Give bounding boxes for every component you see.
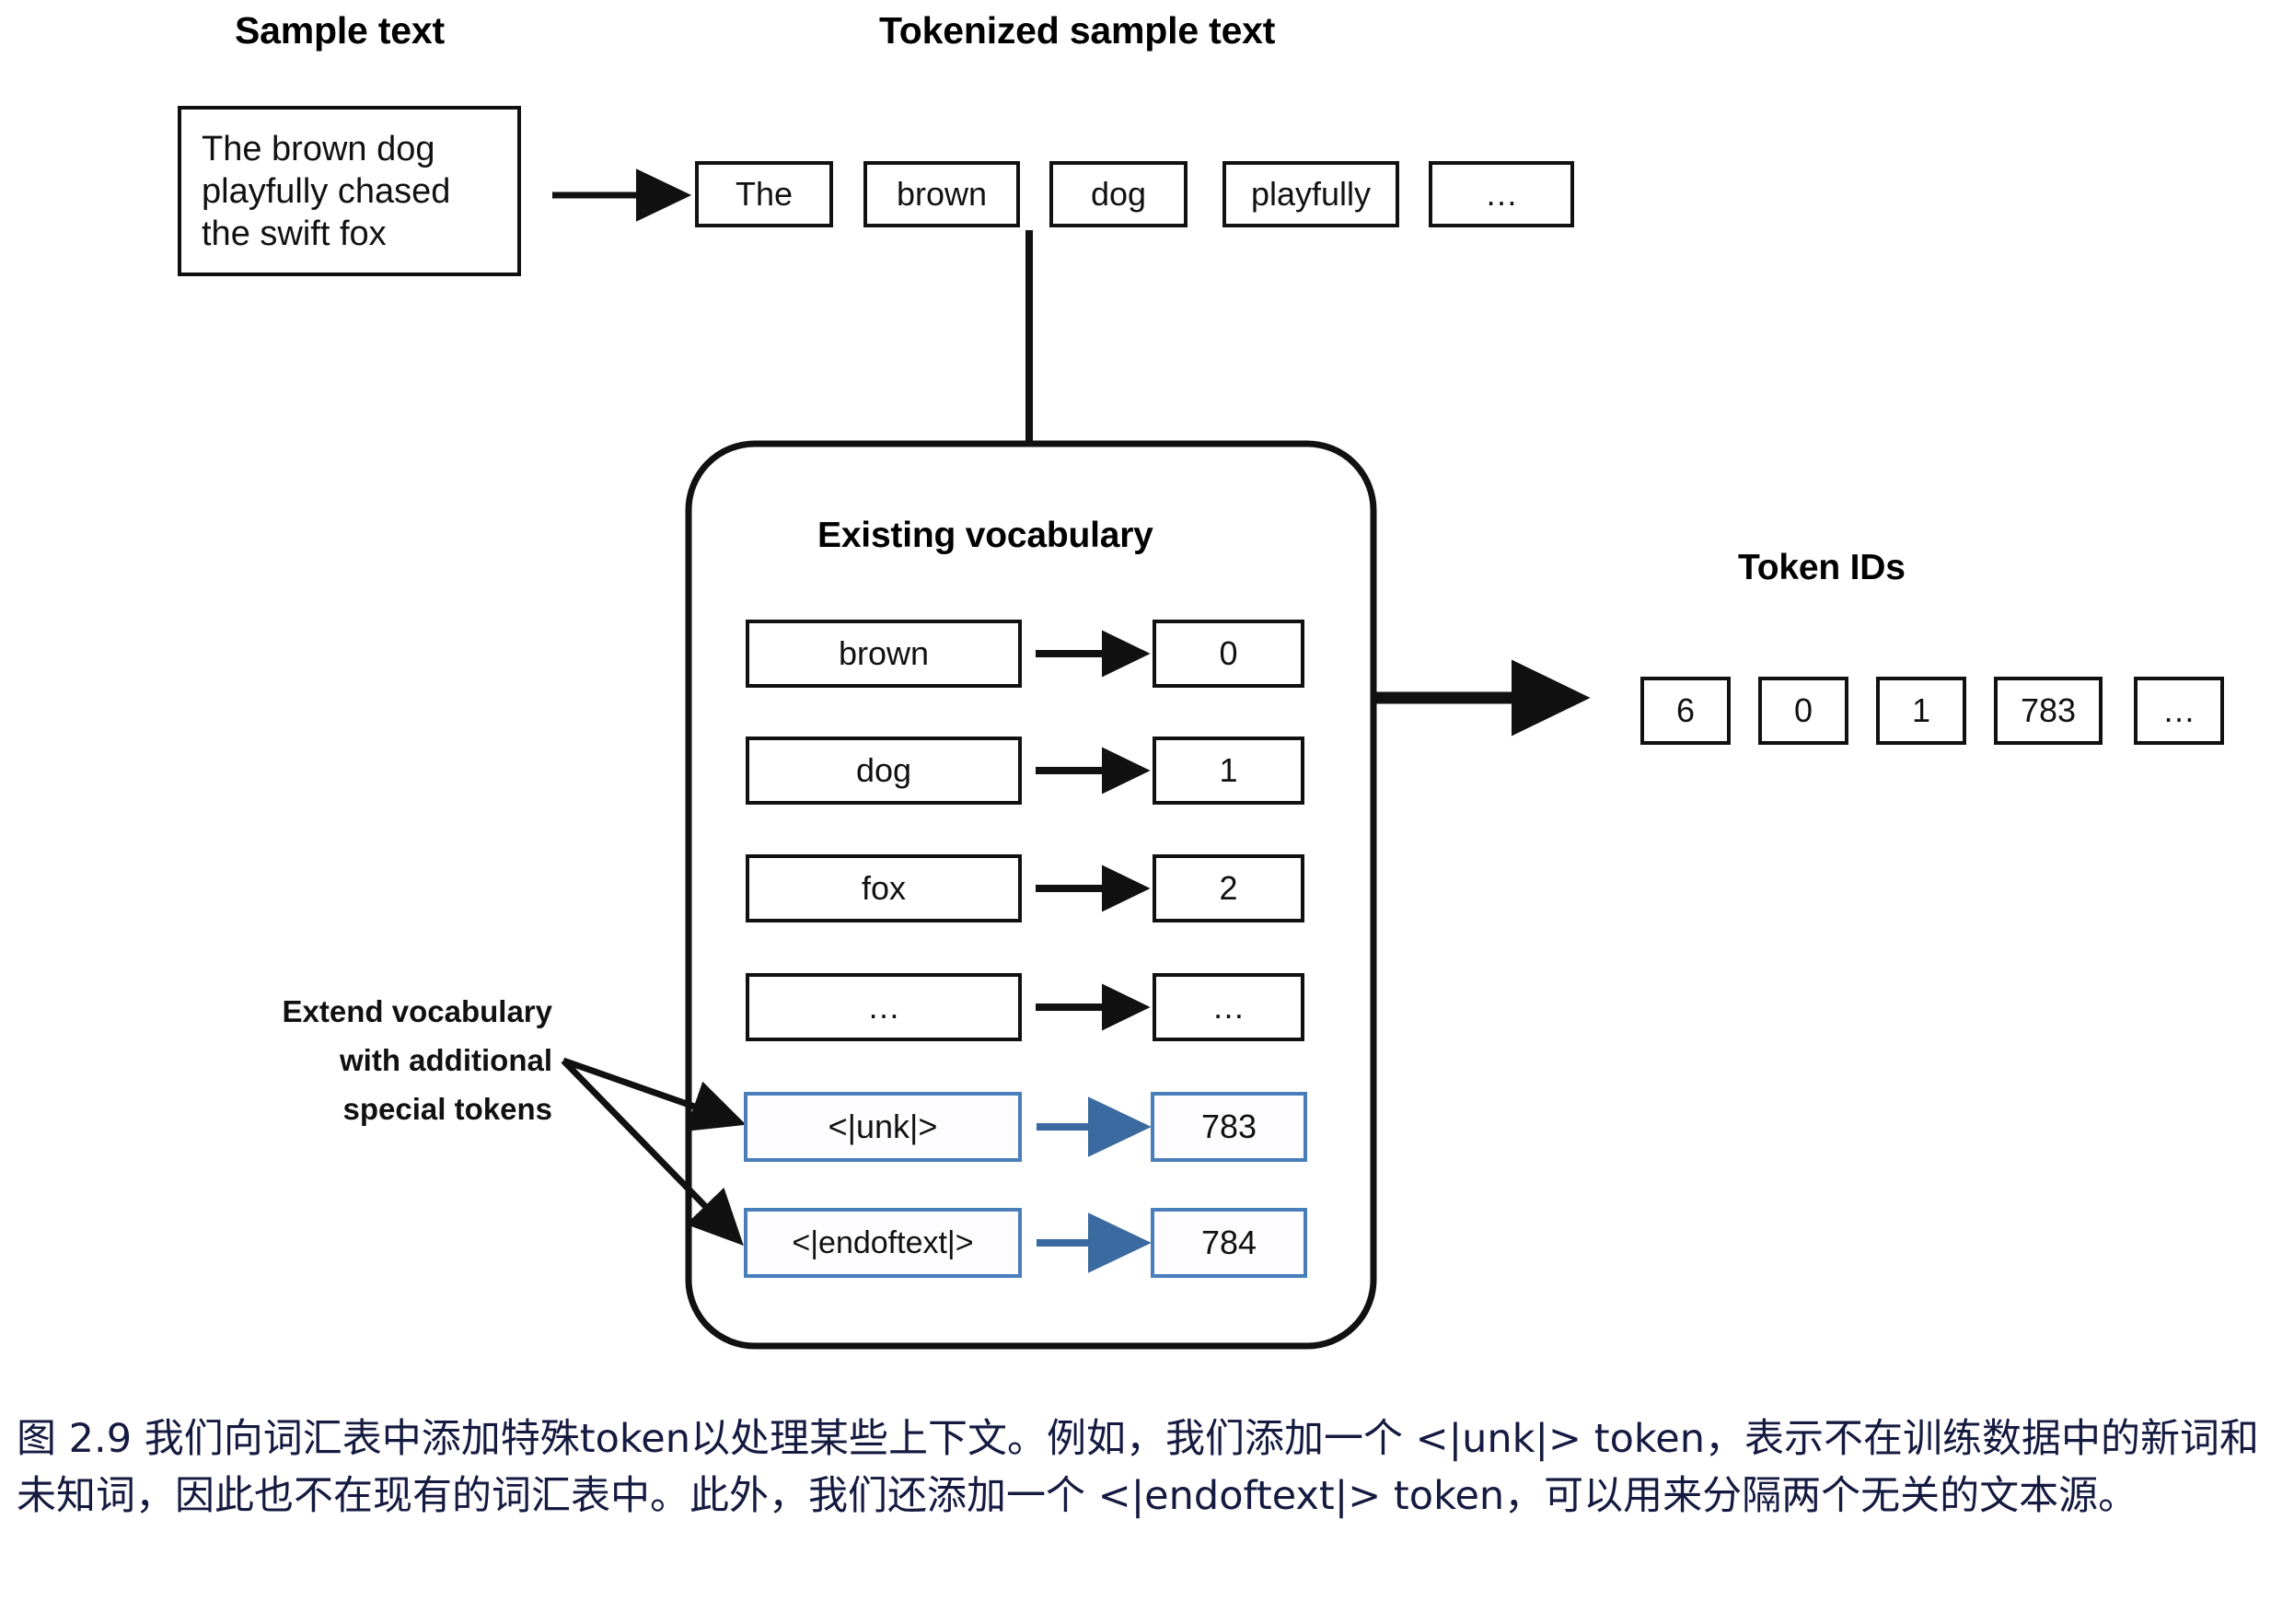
sample-text-line: the swift fox: [202, 213, 517, 255]
token-box: dog: [1049, 161, 1188, 227]
annotation-line: with additional: [184, 1036, 552, 1085]
vocab-word-box: dog: [746, 737, 1022, 805]
token-box: playfully: [1222, 161, 1399, 227]
vocab-mapping-arrows: [1036, 654, 1141, 1007]
annotation-line: special tokens: [184, 1085, 552, 1133]
annotation-arrows: [563, 1061, 736, 1238]
special-token-mapping-arrows: [1037, 1127, 1140, 1243]
sample-text-line: playfully chased: [202, 170, 517, 213]
extend-vocabulary-annotation: Extend vocabulary with additional specia…: [184, 987, 552, 1133]
heading-existing-vocabulary: Existing vocabulary: [817, 516, 1153, 556]
heading-sample-text: Sample text: [235, 9, 445, 52]
diagram-canvas: Sample text Tokenized sample text Existi…: [0, 0, 2294, 1624]
sample-text-line: The brown dog: [202, 128, 517, 170]
token-id-box: 1: [1876, 677, 1966, 745]
figure-caption: 图 2.9 我们向词汇表中添加特殊token以处理某些上下文。例如，我们添加一个…: [17, 1410, 2277, 1525]
vocab-id-box: 0: [1153, 620, 1304, 688]
token-box: brown: [863, 161, 1020, 227]
vocab-id-box: 1: [1153, 737, 1304, 805]
vocab-id-box: …: [1153, 973, 1304, 1041]
token-id-box: 783: [1994, 677, 2103, 745]
vocab-word-box-special: <|endoftext|>: [744, 1208, 1022, 1278]
token-box: The: [695, 161, 833, 227]
token-box: …: [1429, 161, 1574, 227]
token-id-box: 0: [1758, 677, 1848, 745]
vocab-word-box: brown: [746, 620, 1022, 688]
vocab-id-box: 2: [1153, 854, 1304, 922]
vocab-id-box-special: 784: [1151, 1208, 1307, 1278]
vocab-word-box: …: [746, 973, 1022, 1041]
token-id-box: …: [2134, 677, 2224, 745]
vocab-word-box: fox: [746, 854, 1022, 922]
annotation-line: Extend vocabulary: [184, 987, 552, 1036]
vocab-word-box-special: <|unk|>: [744, 1092, 1022, 1162]
vocab-id-box-special: 783: [1151, 1092, 1307, 1162]
token-id-box: 6: [1640, 677, 1731, 745]
sample-text-box: The brown dog playfully chased the swift…: [178, 106, 521, 276]
heading-token-ids: Token IDs: [1738, 548, 1906, 588]
heading-tokenized-sample-text: Tokenized sample text: [879, 9, 1275, 52]
